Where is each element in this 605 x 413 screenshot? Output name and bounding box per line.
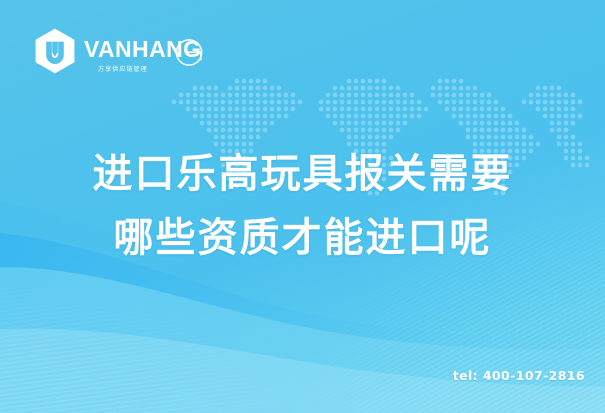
headline-line-2: 哪些资质才能进口呢: [0, 206, 605, 270]
brand-logo: VANHANG 万享供应链管理: [33, 27, 210, 75]
brand-subtitle: 万享供应链管理: [98, 64, 148, 73]
diagonal-hatch-texture-left: [0, 273, 310, 413]
vanhang-wordmark: VANHANG: [84, 33, 210, 67]
vanhang-hexagon-logomark: [33, 27, 77, 75]
brand-wordmark-group: VANHANG 万享供应链管理: [84, 33, 210, 72]
svg-text:VANHANG: VANHANG: [84, 36, 201, 62]
contact-telephone: tel: 400-107-2816: [453, 368, 585, 383]
headline-line-1: 进口乐高玩具报关需要: [0, 142, 605, 206]
headline: 进口乐高玩具报关需要 哪些资质才能进口呢: [0, 142, 605, 270]
promo-banner: VANHANG 万享供应链管理 进口乐高玩具报关需要 哪些资质才能进口呢 tel…: [0, 0, 605, 413]
